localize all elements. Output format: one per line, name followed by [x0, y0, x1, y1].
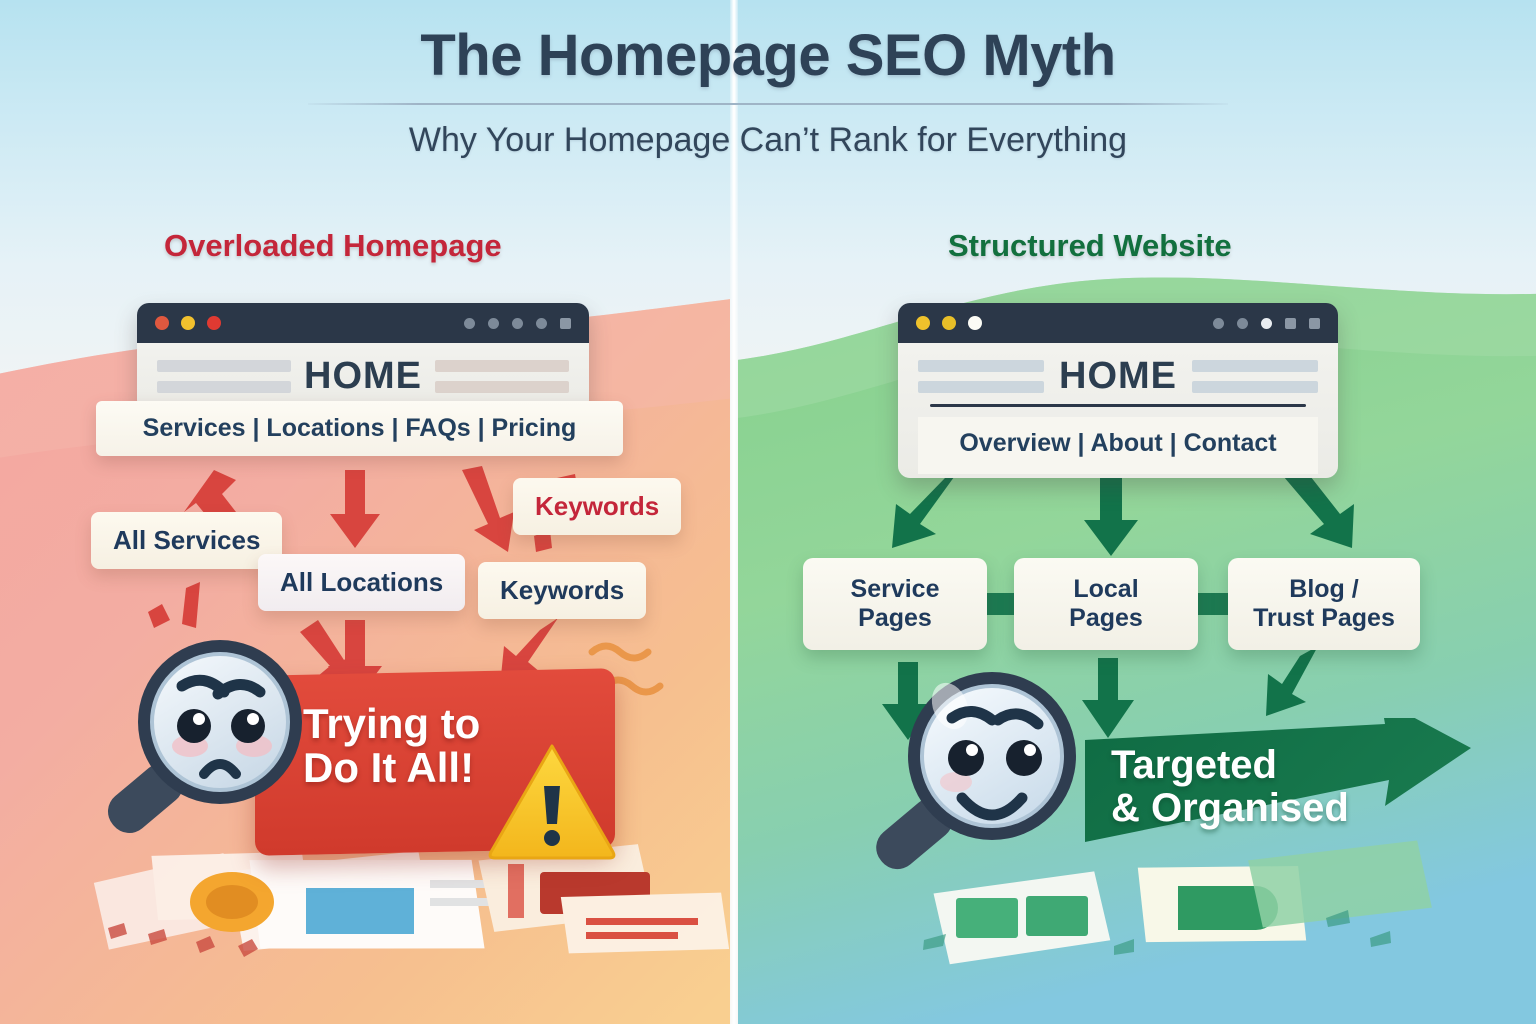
card-local-pages-line2: Pages: [1069, 604, 1143, 632]
magnifier-sad-icon: [78, 624, 318, 865]
warning-triangle-icon: [487, 740, 617, 865]
header: The Homepage SEO Myth Why Your Homepage …: [0, 0, 1536, 200]
chip-keywords-navy-label: Keywords: [500, 575, 624, 605]
card-service-pages-line2: Pages: [858, 604, 932, 632]
card-blog-trust-pages-line2: Trust Pages: [1253, 604, 1395, 632]
chip-all-locations[interactable]: All Locations: [258, 554, 465, 611]
left-nav-text: Services | Locations | FAQs | Pricing: [96, 414, 623, 443]
toolbar-dot-icon: [512, 318, 523, 329]
chip-keywords-red-label: Keywords: [535, 491, 659, 521]
toolbar-square-icon: [1285, 318, 1296, 329]
card-blog-trust-pages[interactable]: Blog / Trust Pages: [1228, 558, 1420, 650]
left-browser-window[interactable]: HOME: [137, 303, 589, 412]
right-skeleton-lines-start: [918, 360, 1044, 393]
close-dot-icon[interactable]: [916, 316, 930, 330]
title-rule: [308, 103, 1228, 105]
left-home-title: HOME: [304, 355, 422, 398]
toolbar-square-icon: [560, 318, 571, 329]
right-nav-bar[interactable]: Overview | About | Contact: [918, 417, 1318, 474]
right-browser-window[interactable]: HOME Overview | About | Contact: [898, 303, 1338, 478]
chip-all-services[interactable]: All Services: [91, 512, 282, 569]
chip-keywords-red[interactable]: Keywords: [513, 478, 681, 535]
right-nav-text: Overview | About | Contact: [918, 429, 1318, 458]
right-banner-text: Targeted & Organised: [1111, 744, 1465, 830]
right-banner-line2: & Organised: [1111, 787, 1465, 830]
right-banner-line1: Targeted: [1111, 744, 1465, 787]
card-service-pages-line1: Service: [851, 575, 940, 603]
left-browser-toolbar-dots: [464, 318, 571, 329]
minimize-dot-icon[interactable]: [942, 316, 956, 330]
left-skeleton-lines-end: [435, 360, 569, 393]
chip-all-services-label: All Services: [113, 525, 260, 555]
toolbar-dot-icon: [536, 318, 547, 329]
toolbar-dot-icon: [1237, 318, 1248, 329]
minimize-dot-icon[interactable]: [181, 316, 195, 330]
page-title: The Homepage SEO Myth: [0, 0, 1536, 89]
maximize-dot-icon[interactable]: [207, 316, 221, 330]
right-traffic-lights: [916, 316, 982, 330]
card-connector: [985, 593, 1017, 615]
right-home-title: HOME: [1059, 355, 1177, 398]
toolbar-square-icon: [1309, 318, 1320, 329]
left-traffic-lights: [155, 316, 221, 330]
toolbar-dot-icon: [1213, 318, 1224, 329]
toolbar-dot-icon: [1261, 318, 1272, 329]
chip-all-locations-label: All Locations: [280, 567, 443, 597]
card-service-pages[interactable]: Service Pages: [803, 558, 987, 650]
card-local-pages-line1: Local: [1073, 575, 1138, 603]
close-dot-icon[interactable]: [155, 316, 169, 330]
right-browser-toolbar-dots: [1213, 318, 1320, 329]
page-subtitle: Why Your Homepage Can’t Rank for Everyth…: [0, 121, 1536, 160]
left-nav-bar[interactable]: Services | Locations | FAQs | Pricing: [96, 401, 623, 456]
right-nav-divider: [930, 404, 1306, 407]
magnifier-happy-icon: [852, 664, 1098, 895]
right-section-heading: Structured Website: [948, 228, 1232, 264]
left-section-heading: Overloaded Homepage: [164, 228, 502, 264]
left-browser-titlebar: [137, 303, 589, 343]
right-banner: Targeted & Organised: [1085, 718, 1475, 868]
right-skeleton-lines-end: [1192, 360, 1318, 393]
card-connector: [1196, 593, 1230, 615]
maximize-dot-icon[interactable]: [968, 316, 982, 330]
card-local-pages[interactable]: Local Pages: [1014, 558, 1198, 650]
right-browser-titlebar: [898, 303, 1338, 343]
infographic-canvas: The Homepage SEO Myth Why Your Homepage …: [0, 0, 1536, 1024]
left-skeleton-lines-start: [157, 360, 291, 393]
toolbar-dot-icon: [464, 318, 475, 329]
toolbar-dot-icon: [488, 318, 499, 329]
chip-keywords-navy[interactable]: Keywords: [478, 562, 646, 619]
card-blog-trust-pages-line1: Blog /: [1289, 575, 1358, 603]
right-browser-page: HOME Overview | About | Contact: [898, 343, 1338, 478]
